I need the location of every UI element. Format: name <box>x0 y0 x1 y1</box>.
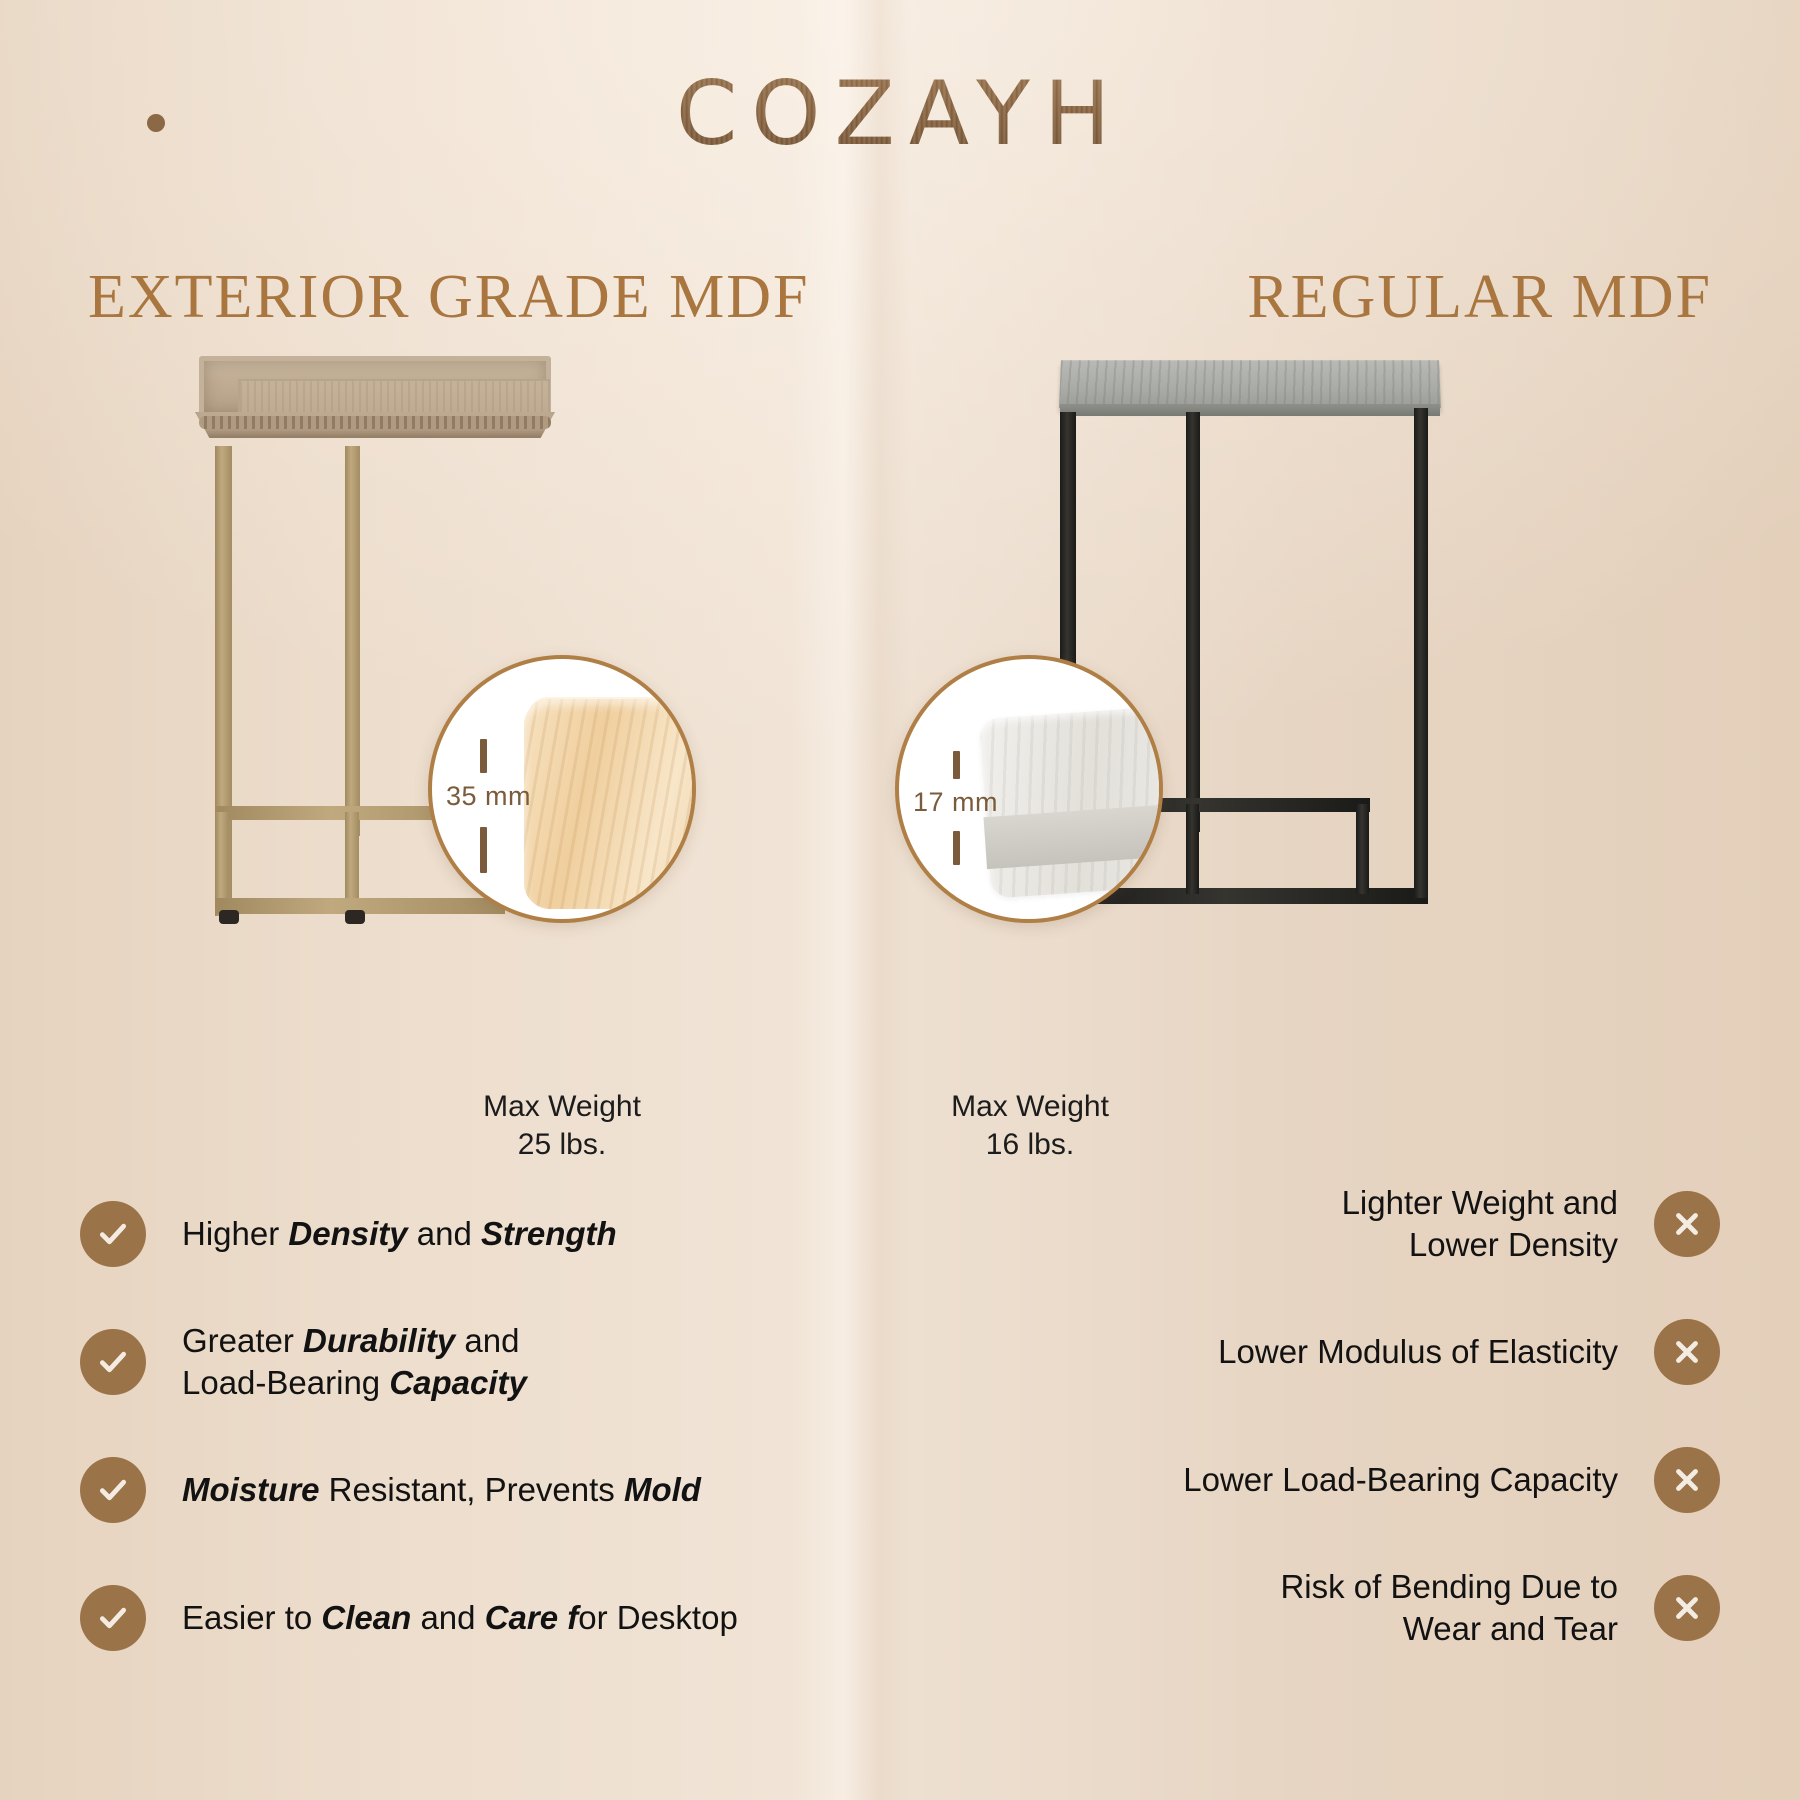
list-item: Greater Durability andLoad-Bearing Capac… <box>80 1298 770 1426</box>
mdf-slab-light-body <box>524 699 696 909</box>
black-leg-inner <box>1186 412 1200 832</box>
thickness-label-right: 17 mm <box>913 787 998 818</box>
list-item-label: Easier to Clean and Care for Desktop <box>182 1597 738 1639</box>
caster-left <box>219 910 239 924</box>
list-item-label: Lower Load-Bearing Capacity <box>1183 1459 1618 1501</box>
black-base-side-right <box>1356 804 1369 894</box>
table-base-side-left <box>215 812 229 904</box>
max-weight-caption-left: Max Weight 25 lbs. <box>432 1088 692 1165</box>
check-icon <box>80 1201 146 1267</box>
brand-logo-text: COZAYH <box>676 62 1124 165</box>
list-item-label: Lighter Weight andLower Density <box>1342 1182 1618 1266</box>
cross-icon <box>1654 1447 1720 1513</box>
check-icon <box>80 1457 146 1523</box>
list-item: Risk of Bending Due toWear and Tear <box>1020 1544 1720 1672</box>
table-leg-right <box>345 446 360 836</box>
thickness-label-left: 35 mm <box>446 781 531 812</box>
check-icon <box>80 1329 146 1395</box>
list-item-label: Greater Durability andLoad-Bearing Capac… <box>182 1320 527 1404</box>
list-item: Easier to Clean and Care for Desktop <box>80 1554 770 1682</box>
benefit-list-exterior-grade: Higher Density and StrengthGreater Durab… <box>80 1170 770 1682</box>
caster-right <box>345 910 365 924</box>
left-column-heading: EXTERIOR GRADE MDF <box>88 262 809 333</box>
list-item: Lower Load-Bearing Capacity <box>1020 1416 1720 1544</box>
tray-top-surface <box>199 356 551 418</box>
caliper-tick-bottom-icon <box>953 831 960 865</box>
cross-icon <box>1654 1191 1720 1257</box>
black-leg-right <box>1414 408 1428 898</box>
caliper-tick-bottom-icon <box>480 827 487 873</box>
list-item: Lower Modulus of Elasticity <box>1020 1288 1720 1416</box>
list-item-label: Risk of Bending Due toWear and Tear <box>1280 1566 1618 1650</box>
list-item-label: Lower Modulus of Elasticity <box>1218 1331 1618 1373</box>
magnifier-callout-right: 17 mm <box>895 655 1163 923</box>
right-column-heading: REGULAR MDF <box>1247 262 1712 333</box>
drawback-list-regular-mdf: Lighter Weight andLower DensityLower Mod… <box>1020 1160 1720 1672</box>
list-item-label: Moisture Resistant, Prevents Mold <box>182 1469 701 1511</box>
black-base-crossbar <box>1186 804 1199 894</box>
magnifier-callout-left: 35 mm <box>428 655 696 923</box>
cross-icon <box>1654 1319 1720 1385</box>
max-weight-caption-right: Max Weight 16 lbs. <box>900 1088 1160 1165</box>
list-item: Moisture Resistant, Prevents Mold <box>80 1426 770 1554</box>
tray-beaded-trim <box>199 416 551 429</box>
check-icon <box>80 1585 146 1651</box>
list-item-label: Higher Density and Strength <box>182 1213 617 1255</box>
logo-center-dot-icon <box>147 114 165 132</box>
list-item: Lighter Weight andLower Density <box>1020 1160 1720 1288</box>
tray-top-assembly <box>185 350 565 450</box>
brand-logo: COZAYH <box>0 62 1800 165</box>
grey-tabletop-surface <box>1059 360 1441 408</box>
caliper-tick-top-icon <box>953 751 960 779</box>
cross-icon <box>1654 1575 1720 1641</box>
grey-tabletop-edge <box>1060 404 1440 416</box>
table-base-crossbar <box>345 812 359 904</box>
list-item: Higher Density and Strength <box>80 1170 770 1298</box>
mdf-slab-grey-body <box>979 703 1163 899</box>
caliper-tick-top-icon <box>480 739 487 773</box>
